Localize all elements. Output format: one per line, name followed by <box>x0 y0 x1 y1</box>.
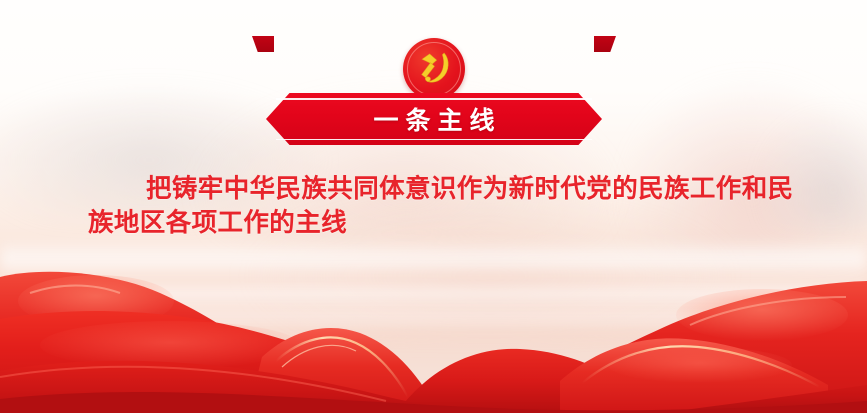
headline-text: 把铸牢中华民族共同体意识作为新时代党的民族工作和民族地区各项工作的主线 <box>88 172 804 240</box>
ribbon-banner: 一条主线 <box>266 93 602 145</box>
hammer-and-sickle-icon <box>403 38 465 100</box>
poster-canvas: 一条主线 把铸牢中华民族共同体意识作为新时代党的民族工作和民族地区各项工作的主线 <box>0 0 867 413</box>
red-silk-waves <box>0 253 867 413</box>
ribbon-title: 一条主线 <box>266 93 602 145</box>
